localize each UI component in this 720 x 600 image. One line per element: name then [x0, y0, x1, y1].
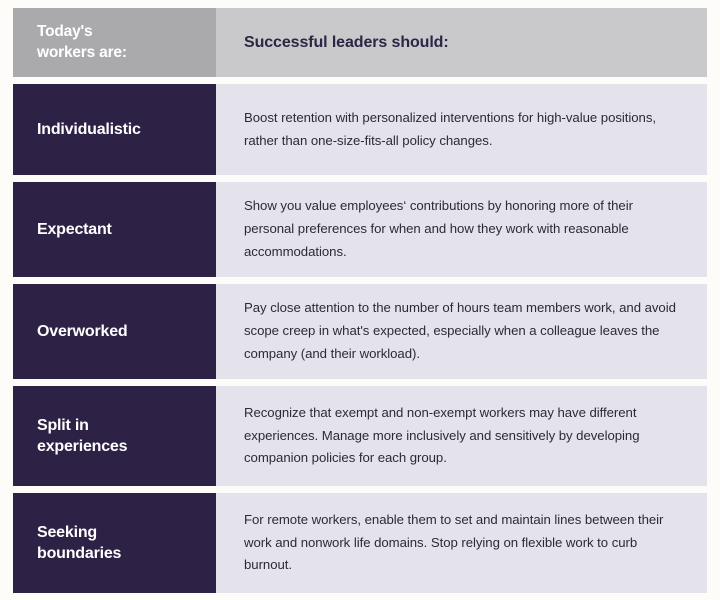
row-body-text: Recognize that exempt and non-exempt wor… — [244, 402, 679, 470]
row-label-cell: Seeking boundaries — [13, 493, 216, 593]
table-row: Expectant Show you value employees‘ cont… — [13, 182, 707, 277]
row-label-cell: Overworked — [13, 284, 216, 379]
row-label-cell: Split in experiences — [13, 386, 216, 486]
table-row: Individualistic Boost retention with per… — [13, 84, 707, 175]
row-body-text: Show you value employees‘ contributions … — [244, 195, 679, 263]
row-label-text: Seeking boundaries — [37, 522, 121, 565]
row-label-cell: Expectant — [13, 182, 216, 277]
table-header-row: Today's workers are: Successful leaders … — [13, 8, 707, 77]
row-body-text: For remote workers, enable them to set a… — [244, 509, 679, 577]
row-body-cell: Recognize that exempt and non-exempt wor… — [216, 386, 707, 486]
row-body-cell: Pay close attention to the number of hou… — [216, 284, 707, 379]
row-label-text: Overworked — [37, 321, 128, 342]
header-cell-body-column: Successful leaders should: — [216, 8, 707, 77]
comparison-table: Today's workers are: Successful leaders … — [13, 8, 707, 600]
header-cell-label-column: Today's workers are: — [13, 8, 216, 77]
row-body-cell: Show you value employees‘ contributions … — [216, 182, 707, 277]
row-body-cell: Boost retention with personalized interv… — [216, 84, 707, 175]
table-row: Seeking boundaries For remote workers, e… — [13, 493, 707, 593]
row-body-text: Boost retention with personalized interv… — [244, 107, 679, 152]
header-body-column-text: Successful leaders should: — [244, 34, 449, 52]
row-label-text: Individualistic — [37, 119, 141, 140]
row-label-text: Expectant — [37, 219, 112, 240]
table-row: Split in experiences Recognize that exem… — [13, 386, 707, 486]
row-body-text: Pay close attention to the number of hou… — [244, 297, 679, 365]
table-row: Overworked Pay close attention to the nu… — [13, 284, 707, 379]
row-label-text: Split in experiences — [37, 415, 127, 458]
header-label-column-text: Today's workers are: — [37, 22, 127, 64]
row-label-cell: Individualistic — [13, 84, 216, 175]
row-body-cell: For remote workers, enable them to set a… — [216, 493, 707, 593]
